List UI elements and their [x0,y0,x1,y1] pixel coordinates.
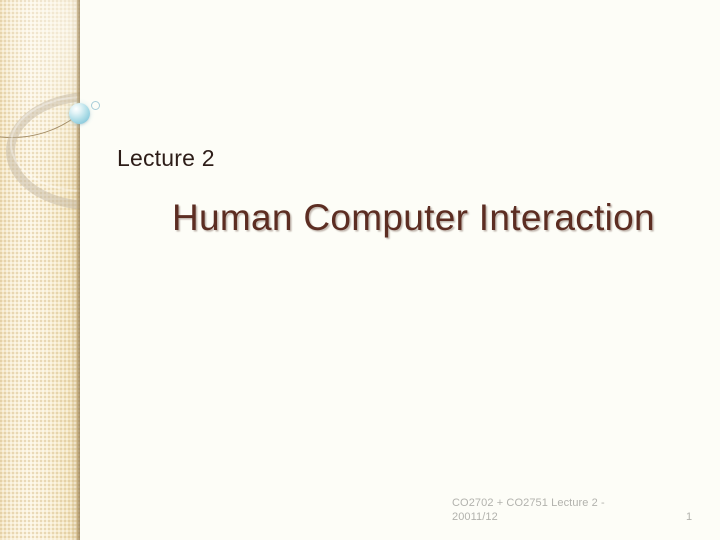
footer-course-info: CO2702 + CO2751 Lecture 2 - 20011/12 [452,497,642,524]
footer-line-2: 20011/12 [452,511,642,525]
page-title: Human Computer Interaction [172,198,655,239]
blue-sphere-icon [69,103,90,124]
left-decorative-band [0,0,80,540]
footer-line-1: CO2702 + CO2751 Lecture 2 - [452,497,605,509]
slide-canvas: Lecture 2 Human Computer Interaction CO2… [0,0,720,540]
slide-page-number: 1 [686,511,692,525]
slide-eyebrow: Lecture 2 [117,146,215,171]
band-edge-divider [77,0,80,540]
small-circle-outline-icon [91,101,100,110]
